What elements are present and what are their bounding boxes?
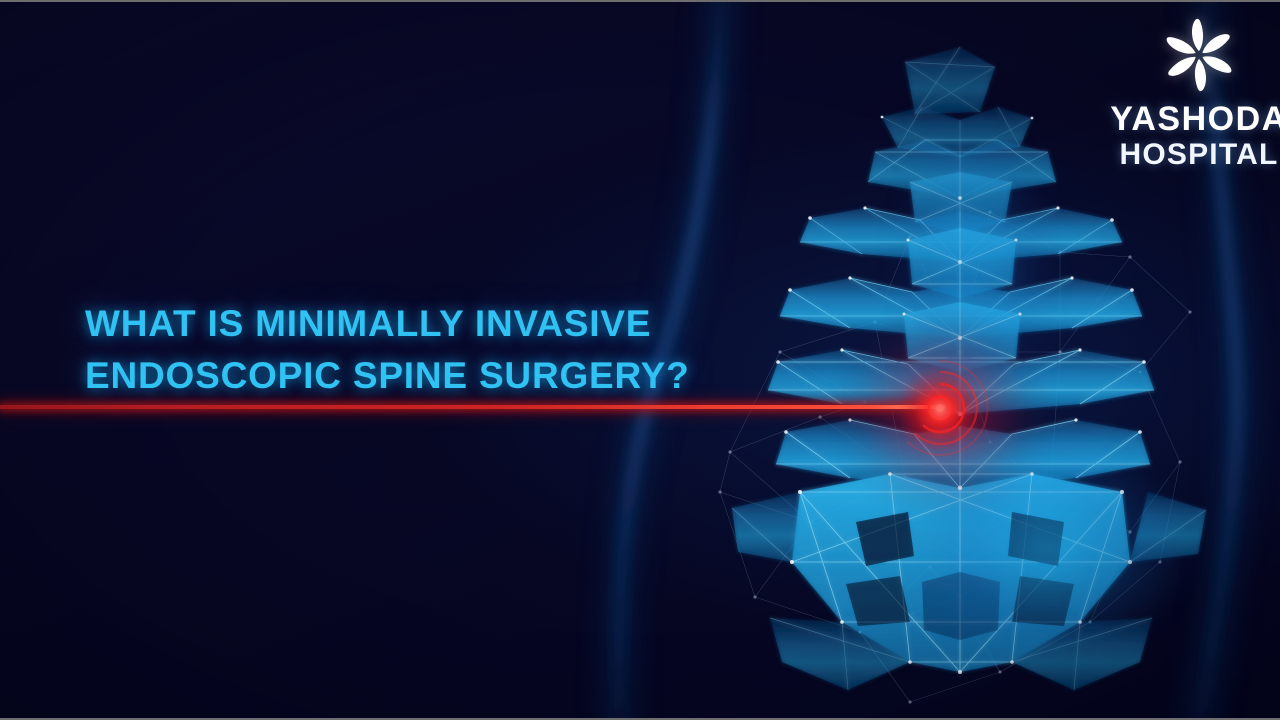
hero-banner: WHAT IS MINIMALLY INVASIVE ENDOSCOPIC SP…	[0, 0, 1280, 720]
page-title: WHAT IS MINIMALLY INVASIVE ENDOSCOPIC SP…	[85, 298, 745, 402]
